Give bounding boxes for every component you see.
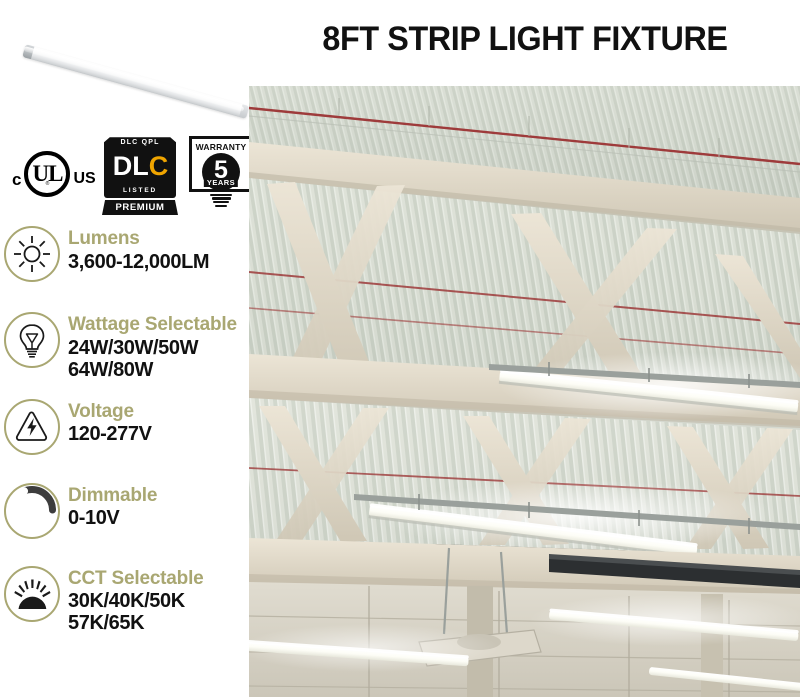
feature-wattage-text: Wattage Selectable 24W/30W/50W 64W/80W (60, 312, 237, 381)
ul-suffix-label: US (73, 171, 95, 187)
warranty-bulb-icon: WARRANTY 5 YEARS (189, 136, 253, 192)
cul-us-badge: c UL ® US (12, 144, 98, 204)
certification-badges: c UL ® US DLC QPL D L C LISTED PREMIUM (10, 136, 248, 216)
page-title: 8FT STRIP LIGHT FIXTURE (264, 20, 787, 59)
dimmer-dial-icon (4, 483, 60, 539)
warranty-unit-label: YEARS (204, 178, 238, 187)
dlc-premium-badge: DLC QPL D L C LISTED PREMIUM (102, 136, 178, 216)
dlc-listed-label: LISTED (104, 187, 176, 194)
feature-list: Lumens 3,600-12,000LM Wattage Selectable… (4, 226, 252, 638)
feature-wattage-value: 24W/30W/50W 64W/80W (68, 337, 237, 381)
feature-cct-label: CCT Selectable (68, 569, 204, 590)
feature-lumens: Lumens 3,600-12,000LM (4, 226, 252, 282)
half-sun-icon (4, 566, 60, 622)
ul-listed-icon: UL ® (24, 151, 70, 197)
feature-cct-value: 30K/40K/50K 57K/65K (68, 590, 204, 634)
warehouse-ceiling-installation-photo (249, 86, 800, 697)
dlc-letter-c: C (149, 153, 168, 180)
sun-rays-icon (4, 226, 60, 282)
feature-lumens-label: Lumens (68, 229, 209, 250)
feature-cct-text: CCT Selectable 30K/40K/50K 57K/65K (60, 566, 204, 635)
product-image (8, 18, 248, 123)
light-bulb-icon (4, 312, 60, 368)
warehouse-photo-artwork (249, 86, 800, 697)
feature-dimmable-value: 0-10V (68, 507, 157, 529)
bulb-base-icon (210, 192, 232, 208)
dlc-premium-banner: PREMIUM (102, 200, 178, 215)
feature-voltage-value: 120-277V (68, 423, 152, 445)
feature-dimmable-label: Dimmable (68, 486, 157, 507)
feature-wattage-label: Wattage Selectable (68, 315, 237, 336)
dlc-letter-d: D (113, 153, 132, 180)
feature-dimmable-text: Dimmable 0-10V (60, 483, 157, 530)
dlc-letters: D L C (104, 150, 176, 182)
dlc-letter-l: L (132, 153, 148, 180)
warranty-badge: WARRANTY 5 YEARS (186, 136, 256, 220)
registered-trademark-icon: ® (46, 181, 50, 187)
dlc-premium-icon: DLC QPL D L C LISTED (104, 136, 176, 198)
dlc-qpl-label: DLC QPL (104, 139, 176, 146)
feature-wattage: Wattage Selectable 24W/30W/50W 64W/80W (4, 312, 252, 381)
strip-light-lens (23, 46, 244, 112)
feature-voltage: Voltage 120-277V (4, 399, 252, 455)
feature-cct: CCT Selectable 30K/40K/50K 57K/65K (4, 566, 252, 635)
product-marketing-page: 8FT STRIP LIGHT FIXTURE c UL ® US DLC QP… (0, 0, 800, 697)
feature-lumens-value: 3,600-12,000LM (68, 251, 209, 273)
warranty-title-label: WARRANTY (192, 142, 250, 152)
feature-voltage-label: Voltage (68, 402, 152, 423)
feature-dimmable: Dimmable 0-10V (4, 483, 252, 539)
feature-voltage-text: Voltage 120-277V (60, 399, 152, 446)
voltage-triangle-icon (4, 399, 60, 455)
feature-lumens-text: Lumens 3,600-12,000LM (60, 226, 209, 273)
ul-prefix-label: c (12, 171, 21, 188)
